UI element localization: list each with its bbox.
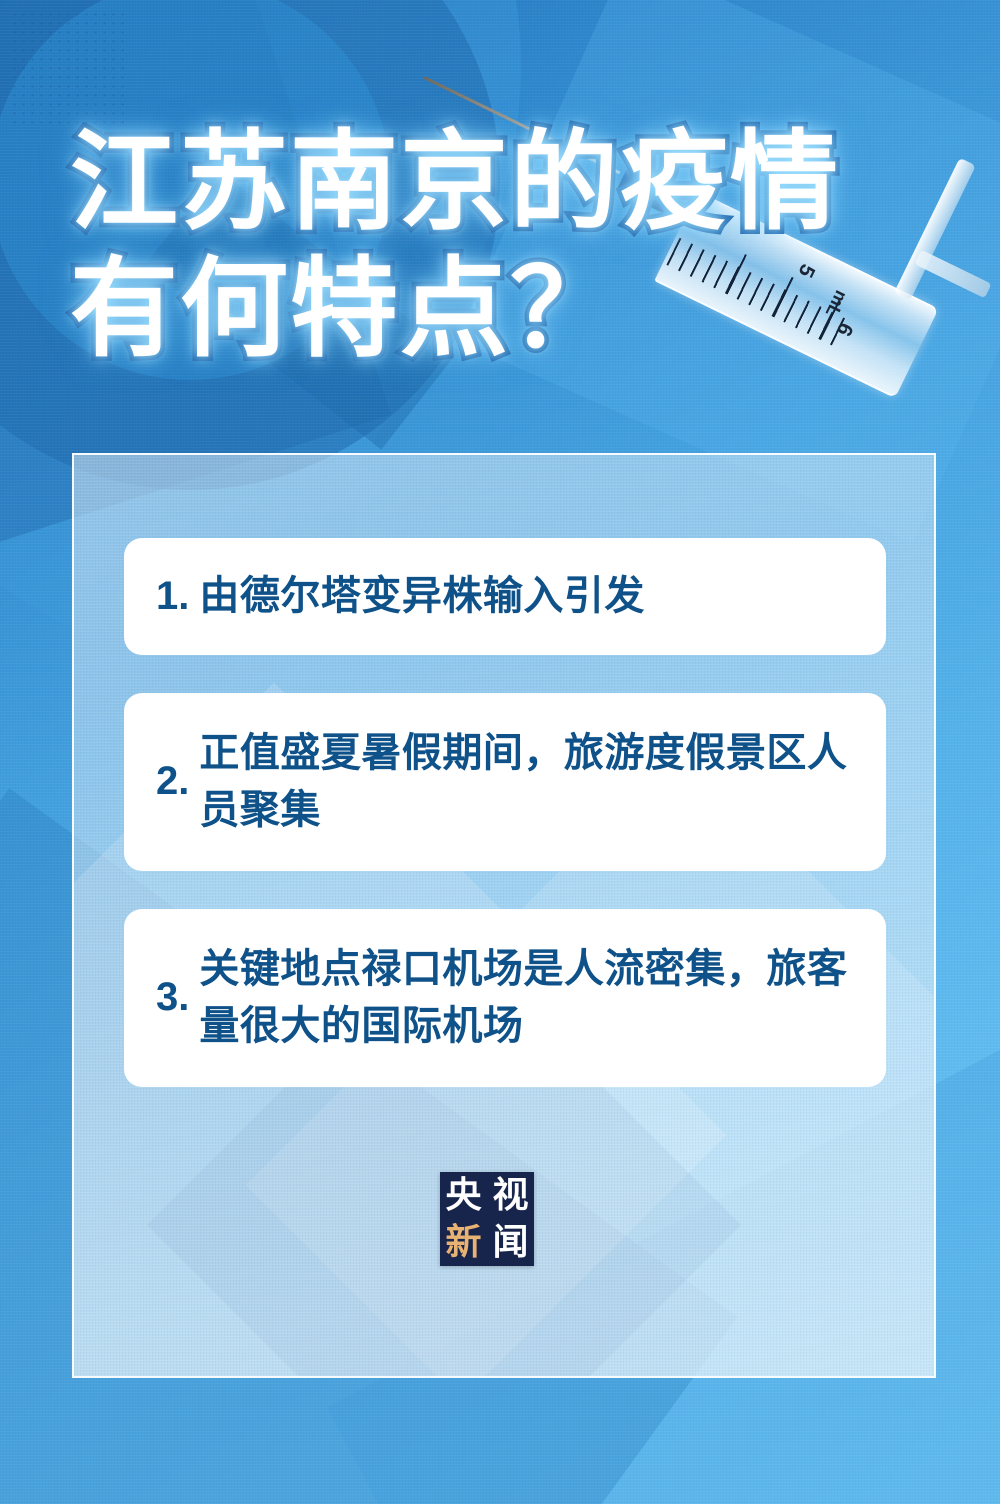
list-item: 1. 由德尔塔变异株输入引发 xyxy=(124,538,886,655)
title-line-2: 有何特点？ xyxy=(70,245,930,372)
list-item-number: 1. xyxy=(156,568,199,625)
points-list: 1. 由德尔塔变异株输入引发 2. 正值盛夏暑假期间，旅游度假景区人员聚集 3.… xyxy=(124,538,886,1125)
logo-char-shi: 视 xyxy=(492,1178,528,1214)
list-item-number: 2. xyxy=(156,753,199,810)
logo-char-yang: 央 xyxy=(445,1178,481,1214)
title-line-1: 江苏南京的疫情 xyxy=(70,118,930,245)
list-item-number: 3. xyxy=(156,969,199,1026)
page-title: 江苏南京的疫情 有何特点？ xyxy=(70,118,930,373)
logo-char-xin: 新 xyxy=(445,1225,481,1261)
list-item: 2. 正值盛夏暑假期间，旅游度假景区人员聚集 xyxy=(124,693,886,871)
logo-char-wen: 闻 xyxy=(492,1225,528,1261)
list-item: 3. 关键地点禄口机场是人流密集，旅客量很大的国际机场 xyxy=(124,909,886,1087)
list-item-text: 正值盛夏暑假期间，旅游度假景区人员聚集 xyxy=(199,725,850,839)
cctv-news-logo: 央 视 新 闻 xyxy=(440,1172,534,1266)
list-item-text: 关键地点禄口机场是人流密集，旅客量很大的国际机场 xyxy=(199,941,850,1055)
background-dot-pattern xyxy=(10,10,130,130)
poster-root: 5 mL 6 江苏南京的疫情 有何特点？ 1. 由德尔塔变异株输入引发 2. 正… xyxy=(0,0,1000,1504)
list-item-text: 由德尔塔变异株输入引发 xyxy=(199,568,645,625)
